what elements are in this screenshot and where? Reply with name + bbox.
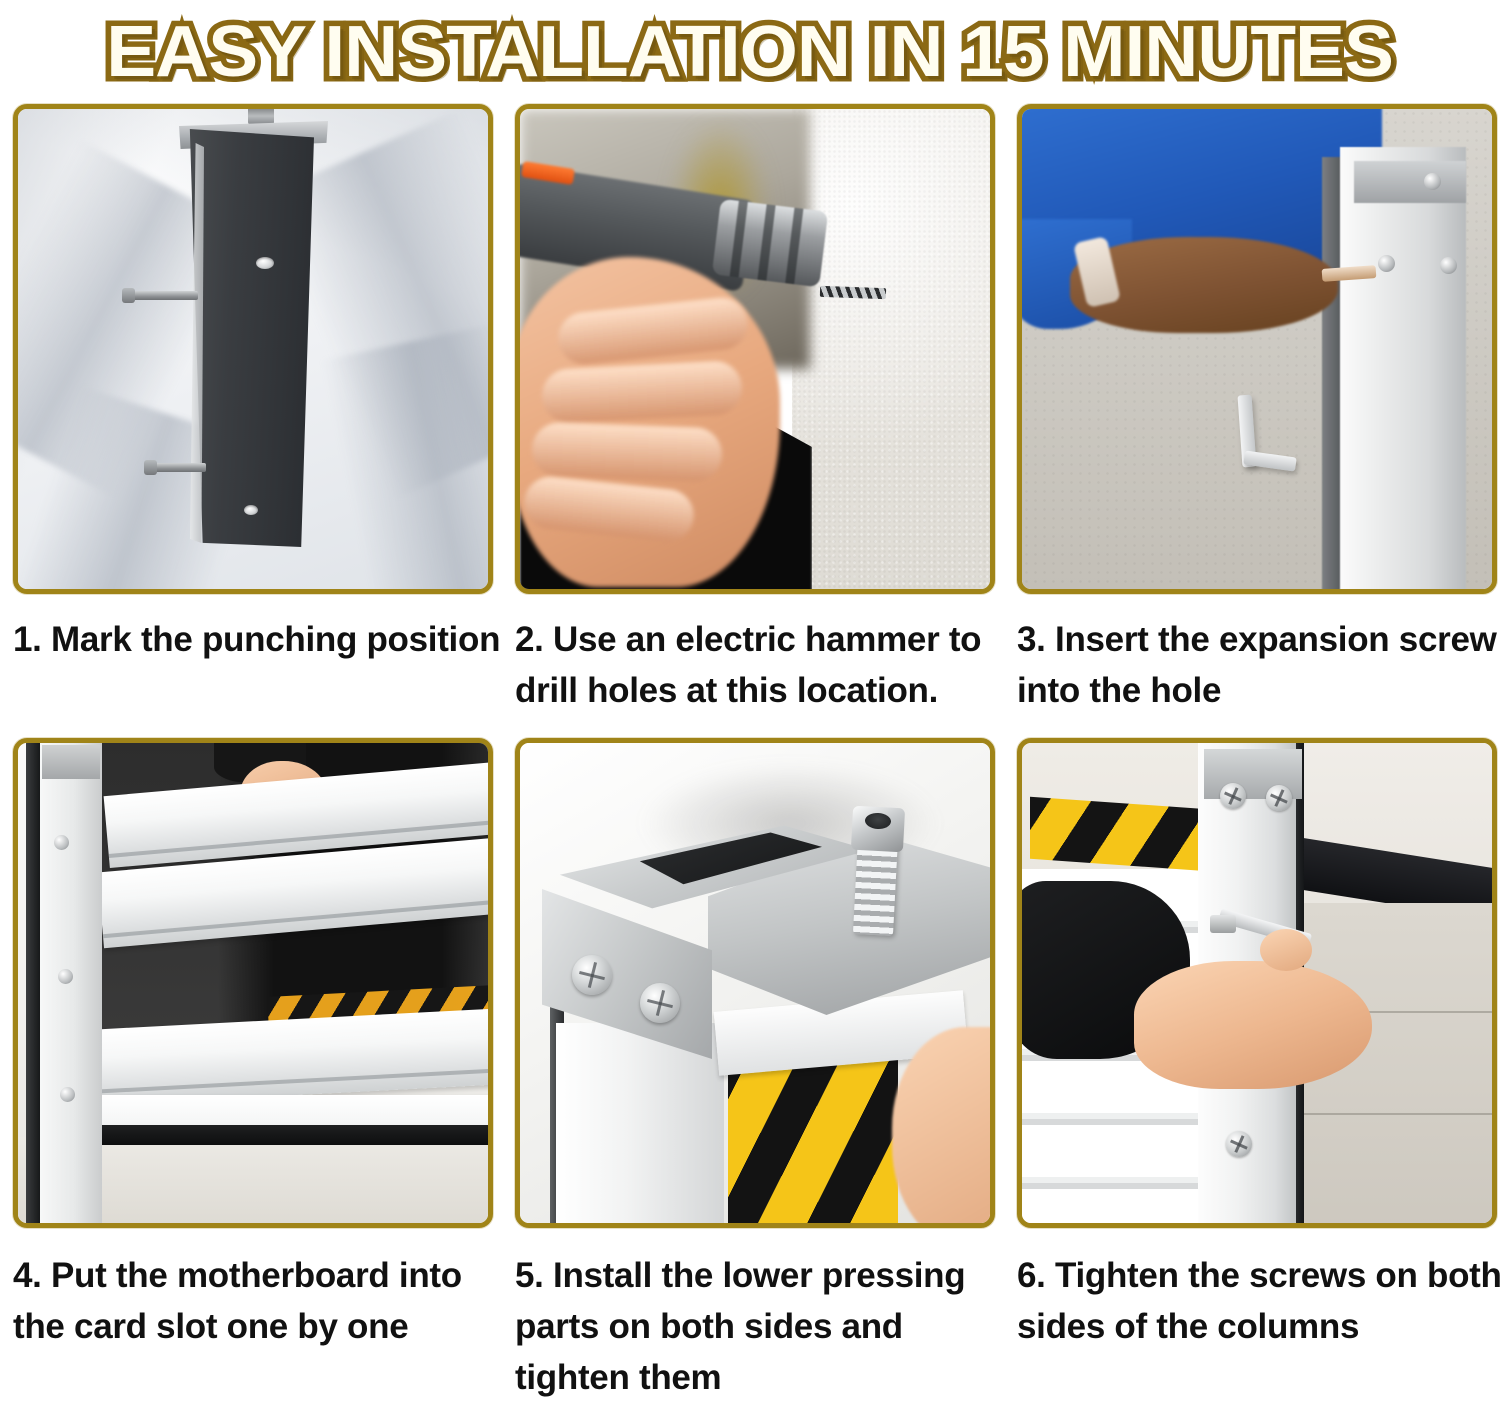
chuck-ring: [785, 208, 803, 285]
step-caption-3: 3. Insert the expansion screw into the h…: [1017, 614, 1500, 716]
hand-tightening-screw: [1134, 961, 1372, 1089]
bracket-phillips-screw: [572, 955, 612, 995]
step-caption-5: 5. Install the lower pressing parts on b…: [515, 1250, 1015, 1403]
hazard-stripe-tape: [1030, 797, 1208, 871]
steps-row-2: 4. Put the motherboard into the card slo…: [8, 738, 1492, 1403]
white-column: [40, 743, 102, 1223]
column-top-plate: [1354, 161, 1466, 203]
step-cell-2: 2. Use an electric hammer to drill holes…: [515, 104, 995, 716]
expansion-screw-upper: [130, 291, 198, 300]
step-caption-2: 2. Use an electric hammer to drill holes…: [515, 614, 1015, 716]
column-screw: [60, 1087, 75, 1102]
page-title-bar: EASY INSTALLATION IN 15 MINUTES: [0, 0, 1500, 104]
step-cell-1: 1. Mark the punching position: [13, 104, 493, 716]
step-caption-6: 6. Tighten the screws on both sides of t…: [1017, 1250, 1500, 1352]
plate-screw: [1440, 257, 1457, 274]
expansion-screw-lower-head: [144, 460, 157, 475]
step-image-6: [1017, 738, 1497, 1228]
step-image-3: [1017, 104, 1497, 594]
scene-install-pressing-parts: [520, 743, 990, 1223]
step-cell-4: 4. Put the motherboard into the card slo…: [13, 738, 493, 1403]
step-cell-5: 5. Install the lower pressing parts on b…: [515, 738, 995, 1403]
white-column: [1340, 147, 1466, 589]
step-image-2: [515, 104, 995, 594]
masonry-drill-bit: [820, 286, 886, 299]
step-cell-6: 6. Tighten the screws on both sides of t…: [1017, 738, 1497, 1403]
step-image-1: [13, 104, 493, 594]
screwdriver-tip: [1210, 915, 1236, 933]
step-image-4: [13, 738, 493, 1228]
installation-steps-grid: 1. Mark the punching position: [0, 104, 1500, 1403]
drill-hole-lower: [244, 505, 258, 515]
textured-white-wall: [792, 109, 990, 589]
finger: [541, 360, 744, 424]
plate-screw: [1378, 255, 1395, 272]
column-screw: [58, 969, 73, 984]
scene-drill-holes: [520, 109, 990, 589]
column-lower-screw: [1226, 1131, 1252, 1157]
top-bolt-head: [248, 109, 274, 125]
bracket-phillips-screw: [640, 983, 680, 1023]
steps-row-1: 1. Mark the punching position: [8, 104, 1492, 716]
page-title: EASY INSTALLATION IN 15 MINUTES: [107, 16, 1394, 88]
expansion-screw-upper-head: [122, 288, 135, 303]
column-top-screw: [1266, 785, 1292, 811]
drill-chuck: [712, 199, 828, 288]
plate-screw: [1424, 173, 1441, 190]
step-caption-1: 1. Mark the punching position: [13, 614, 513, 665]
scene-tighten-column-screws: [1022, 743, 1492, 1223]
column-screw: [54, 835, 69, 850]
chuck-ring: [757, 204, 775, 281]
finger: [531, 422, 723, 483]
floor-tile-line: [1294, 1113, 1492, 1115]
thumb: [1260, 929, 1312, 971]
step-cell-3: 3. Insert the expansion screw into the h…: [1017, 104, 1497, 716]
column-top-screw: [1220, 783, 1246, 809]
expansion-screw-lower: [150, 463, 206, 472]
step-image-5: [515, 738, 995, 1228]
drill-hole-upper: [256, 257, 274, 269]
column-top-plate: [42, 745, 100, 779]
scene-insert-expansion-screw: [1022, 109, 1492, 589]
dark-post: [186, 129, 314, 547]
step-caption-4: 4. Put the motherboard into the card slo…: [13, 1250, 513, 1352]
black-baseboard-seal: [78, 1125, 488, 1145]
chuck-ring: [730, 201, 748, 278]
scene-mark-punching-position: [18, 109, 488, 589]
scene-insert-boards: [18, 743, 488, 1223]
